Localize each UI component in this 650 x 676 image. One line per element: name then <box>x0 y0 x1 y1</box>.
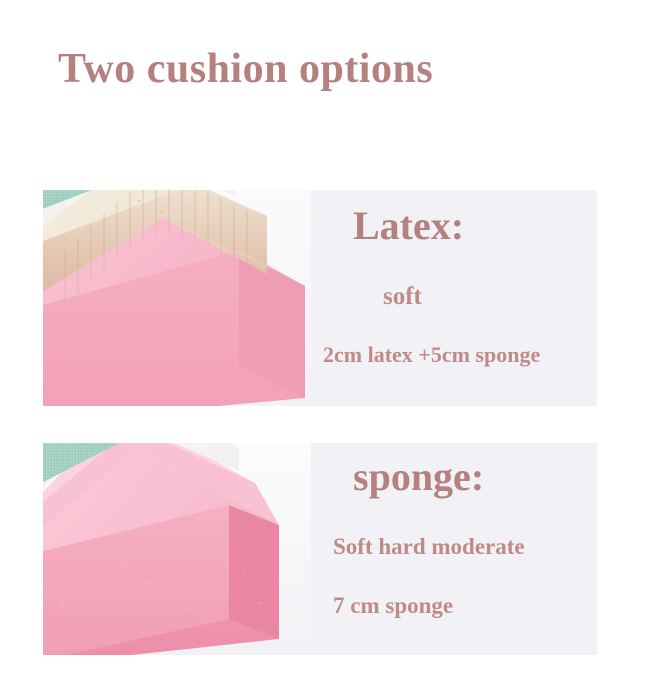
latex-composition-label: 2cm latex +5cm sponge <box>323 342 540 368</box>
latex-firmness-label: soft <box>383 283 422 311</box>
latex-cushion-layers-photo <box>43 190 311 406</box>
cushion-option-card-sponge[interactable]: sponge: Soft hard moderate 7 cm sponge <box>43 443 597 655</box>
sponge-firmness-label: Soft hard moderate <box>333 534 525 560</box>
page-title: Two cushion options <box>58 45 433 93</box>
sponge-cushion-layers-photo <box>43 443 311 655</box>
sponge-heading: sponge: <box>353 453 484 500</box>
latex-heading: Latex: <box>353 202 464 249</box>
sponge-composition-label: 7 cm sponge <box>333 593 453 619</box>
sponge-option-text: sponge: Soft hard moderate 7 cm sponge <box>311 443 597 655</box>
latex-option-text: Latex: soft 2cm latex +5cm sponge <box>311 190 597 406</box>
cushion-option-card-latex[interactable]: Latex: soft 2cm latex +5cm sponge <box>43 190 597 406</box>
